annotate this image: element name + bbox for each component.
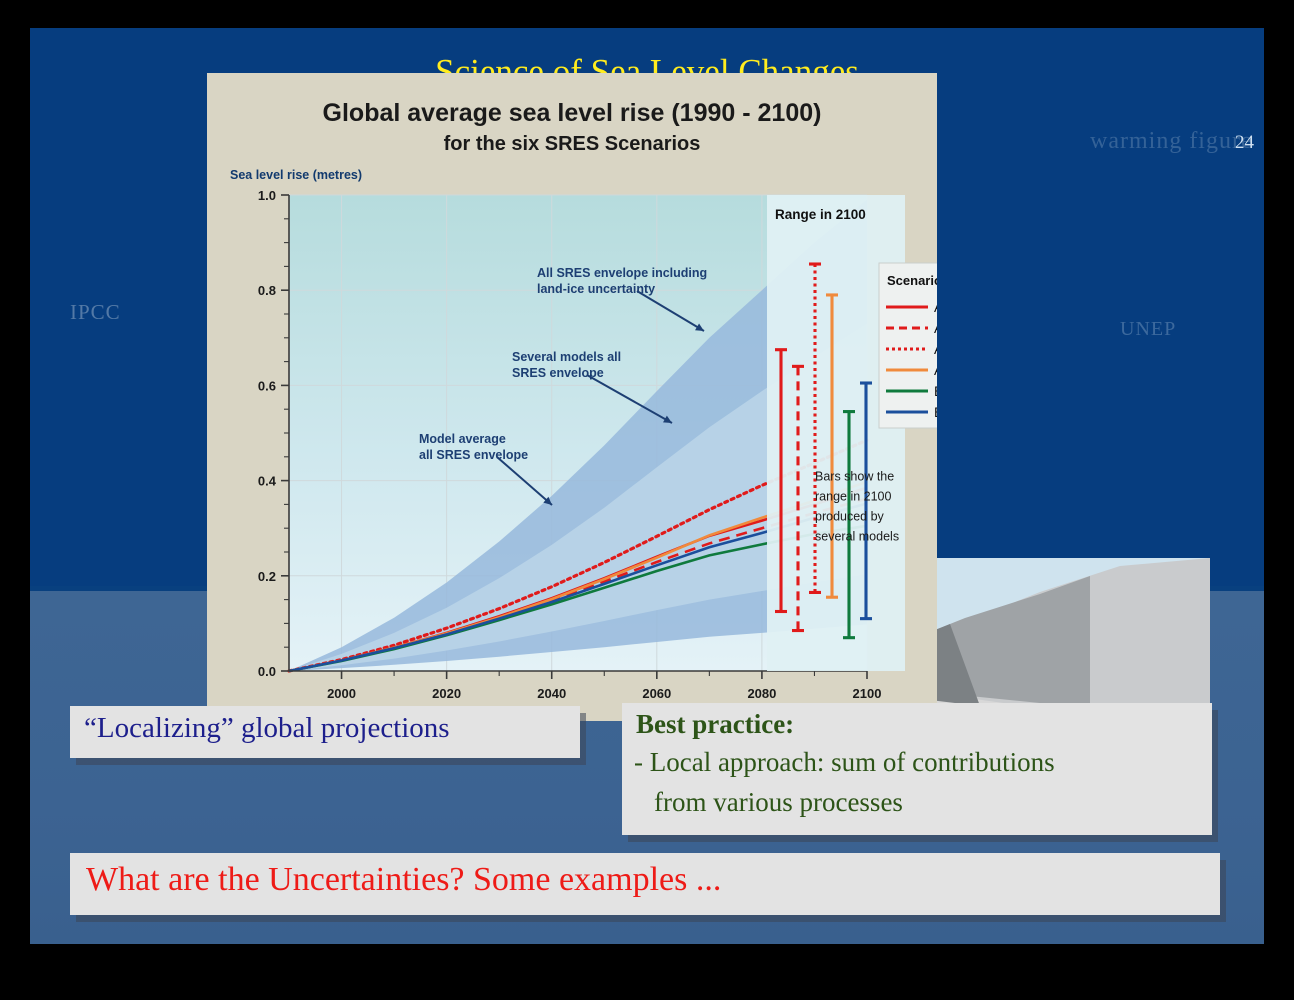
slide-number: 24	[1235, 132, 1254, 154]
best-practice-line-2: from various processes	[654, 787, 903, 818]
y-tick-label: 0.0	[258, 664, 276, 679]
y-tick-label: 0.8	[258, 283, 276, 298]
x-tick-label: 2080	[747, 686, 776, 701]
x-tick-label: 2040	[537, 686, 566, 701]
range-panel-note: several models	[815, 530, 899, 544]
best-practice-line-1: - Local approach: sum of contributions	[634, 747, 1055, 778]
plot-area: 0.00.20.40.60.81.02000202020402060208021…	[207, 73, 937, 721]
chart-annotation: All SRES envelope including	[537, 266, 707, 280]
legend-label: A1T	[934, 320, 937, 336]
chart-annotation: land-ice uncertainty	[537, 282, 655, 296]
x-tick-label: 2020	[432, 686, 461, 701]
chart-annotation: Model average	[419, 432, 506, 446]
legend-label: B2	[934, 404, 937, 420]
legend-label: A1FI	[934, 341, 937, 357]
legend-title: Scenarios	[887, 273, 937, 288]
figure-sea-level-rise: Global average sea level rise (1990 - 21…	[207, 73, 937, 721]
range-panel-note: range in 2100	[815, 490, 892, 504]
y-tick-label: 0.4	[258, 474, 277, 489]
range-panel-note: produced by	[815, 510, 885, 524]
legend-label: B1	[934, 383, 937, 399]
range-panel-note: Bars show the	[815, 470, 894, 484]
legend-label: A2	[934, 362, 937, 378]
callout-uncertainties-text: What are the Uncertainties? Some example…	[86, 861, 721, 899]
y-tick-label: 0.2	[258, 569, 276, 584]
watermark-ipcc: IPCC	[70, 300, 121, 325]
range-panel-title: Range in 2100	[775, 207, 866, 222]
x-tick-label: 2060	[642, 686, 671, 701]
best-practice-heading: Best practice:	[636, 709, 794, 740]
watermark-warming: warming figure	[1090, 128, 1253, 155]
x-tick-label: 2000	[327, 686, 356, 701]
callout-localizing: “Localizing” global projections	[70, 706, 580, 758]
callout-uncertainties: What are the Uncertainties? Some example…	[70, 853, 1220, 915]
y-tick-label: 1.0	[258, 188, 276, 203]
presentation-slide: warming figure UNEP 24 Science of Sea Le…	[30, 28, 1264, 944]
chart-annotation: Several models all	[512, 350, 621, 364]
legend-label: A1	[934, 299, 937, 315]
callout-localizing-text: “Localizing” global projections	[84, 712, 450, 745]
callout-best-practice: Best practice: - Local approach: sum of …	[622, 703, 1212, 835]
chart-svg: 0.00.20.40.60.81.02000202020402060208021…	[207, 73, 937, 721]
chart-annotation: SRES envelope	[512, 366, 604, 380]
y-tick-label: 0.6	[258, 378, 276, 393]
watermark-unep: UNEP	[1120, 318, 1176, 341]
chart-annotation: all SRES envelope	[419, 448, 528, 462]
x-tick-label: 2100	[853, 686, 882, 701]
